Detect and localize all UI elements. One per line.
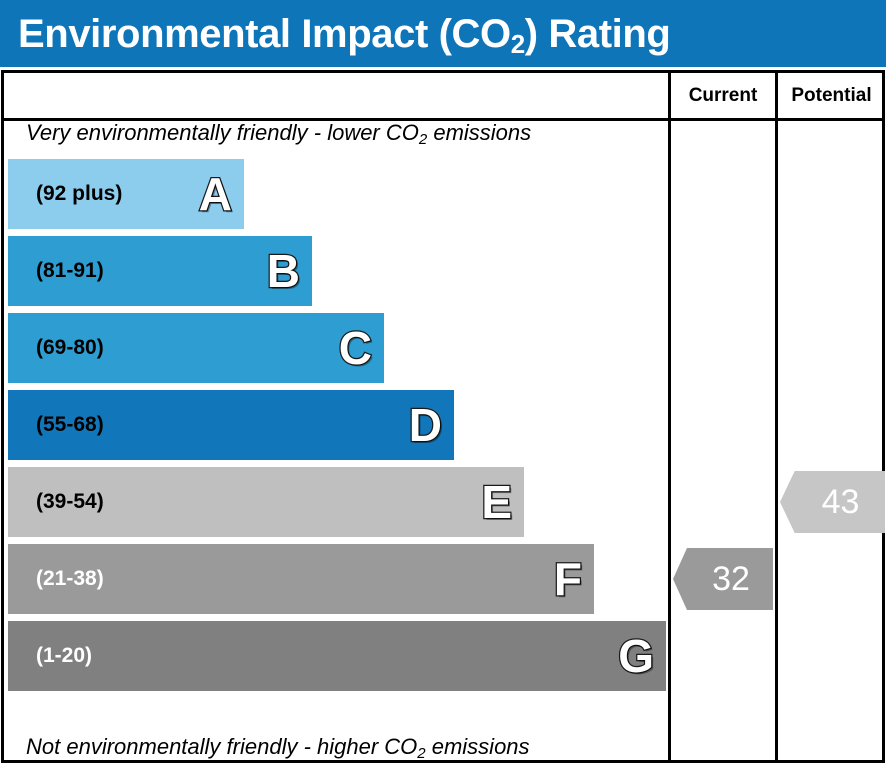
rating-bars: (92 plus)A(81-91)B(69-80)C(55-68)D(39-54… xyxy=(4,159,668,722)
caption-bottom-prefix: Not environmentally friendly - higher CO xyxy=(26,734,417,759)
epc-co2-rating-chart: Environmental Impact (CO2) Rating Curren… xyxy=(0,0,886,764)
title-suffix: ) Rating xyxy=(525,12,671,56)
rating-band-f: (21-38)F xyxy=(8,544,594,614)
caption-top: Very environmentally friendly - lower CO… xyxy=(26,120,531,146)
rating-marker-current: 32 xyxy=(673,548,773,610)
rating-marker-potential: 43 xyxy=(780,471,885,533)
rating-band-letter-f: F xyxy=(554,556,582,602)
column-header-potential: Potential xyxy=(778,73,885,118)
column-divider-potential xyxy=(775,73,778,760)
column-header-current: Current xyxy=(671,73,775,118)
rating-band-letter-c: C xyxy=(339,325,372,371)
caption-top-suffix: emissions xyxy=(427,120,531,145)
rating-band-range-d: (55-68) xyxy=(36,413,104,437)
caption-bottom-subscript: 2 xyxy=(417,745,425,762)
rating-marker-value-current: 32 xyxy=(696,562,750,596)
rating-band-letter-a: A xyxy=(199,171,232,217)
rating-band-g: (1-20)G xyxy=(8,621,666,691)
caption-top-subscript: 2 xyxy=(419,131,427,148)
rating-band-letter-g: G xyxy=(618,633,654,679)
rating-band-letter-e: E xyxy=(481,479,512,525)
caption-bottom-suffix: emissions xyxy=(426,734,530,759)
rating-band-letter-d: D xyxy=(409,402,442,448)
column-divider-current xyxy=(668,73,671,760)
title-prefix: Environmental Impact (CO xyxy=(18,12,511,56)
chart-title-bar: Environmental Impact (CO2) Rating xyxy=(0,0,886,67)
rating-band-range-f: (21-38) xyxy=(36,567,104,591)
rating-band-b: (81-91)B xyxy=(8,236,312,306)
rating-band-c: (69-80)C xyxy=(8,313,384,383)
rating-band-range-e: (39-54) xyxy=(36,490,104,514)
rating-band-range-b: (81-91) xyxy=(36,259,104,283)
title-subscript: 2 xyxy=(511,29,525,59)
rating-marker-value-potential: 43 xyxy=(806,485,860,519)
rating-bands-area: Very environmentally friendly - lower CO… xyxy=(4,118,668,763)
rating-band-a: (92 plus)A xyxy=(8,159,244,229)
rating-band-d: (55-68)D xyxy=(8,390,454,460)
rating-table: Current Potential Very environmentally f… xyxy=(1,70,885,763)
page-title: Environmental Impact (CO2) Rating xyxy=(18,14,670,54)
rating-band-range-g: (1-20) xyxy=(36,644,92,668)
rating-band-e: (39-54)E xyxy=(8,467,524,537)
rating-band-range-c: (69-80) xyxy=(36,336,104,360)
rating-band-letter-b: B xyxy=(267,248,300,294)
caption-top-prefix: Very environmentally friendly - lower CO xyxy=(26,120,419,145)
rating-band-range-a: (92 plus) xyxy=(36,182,122,206)
caption-bottom: Not environmentally friendly - higher CO… xyxy=(26,734,530,760)
